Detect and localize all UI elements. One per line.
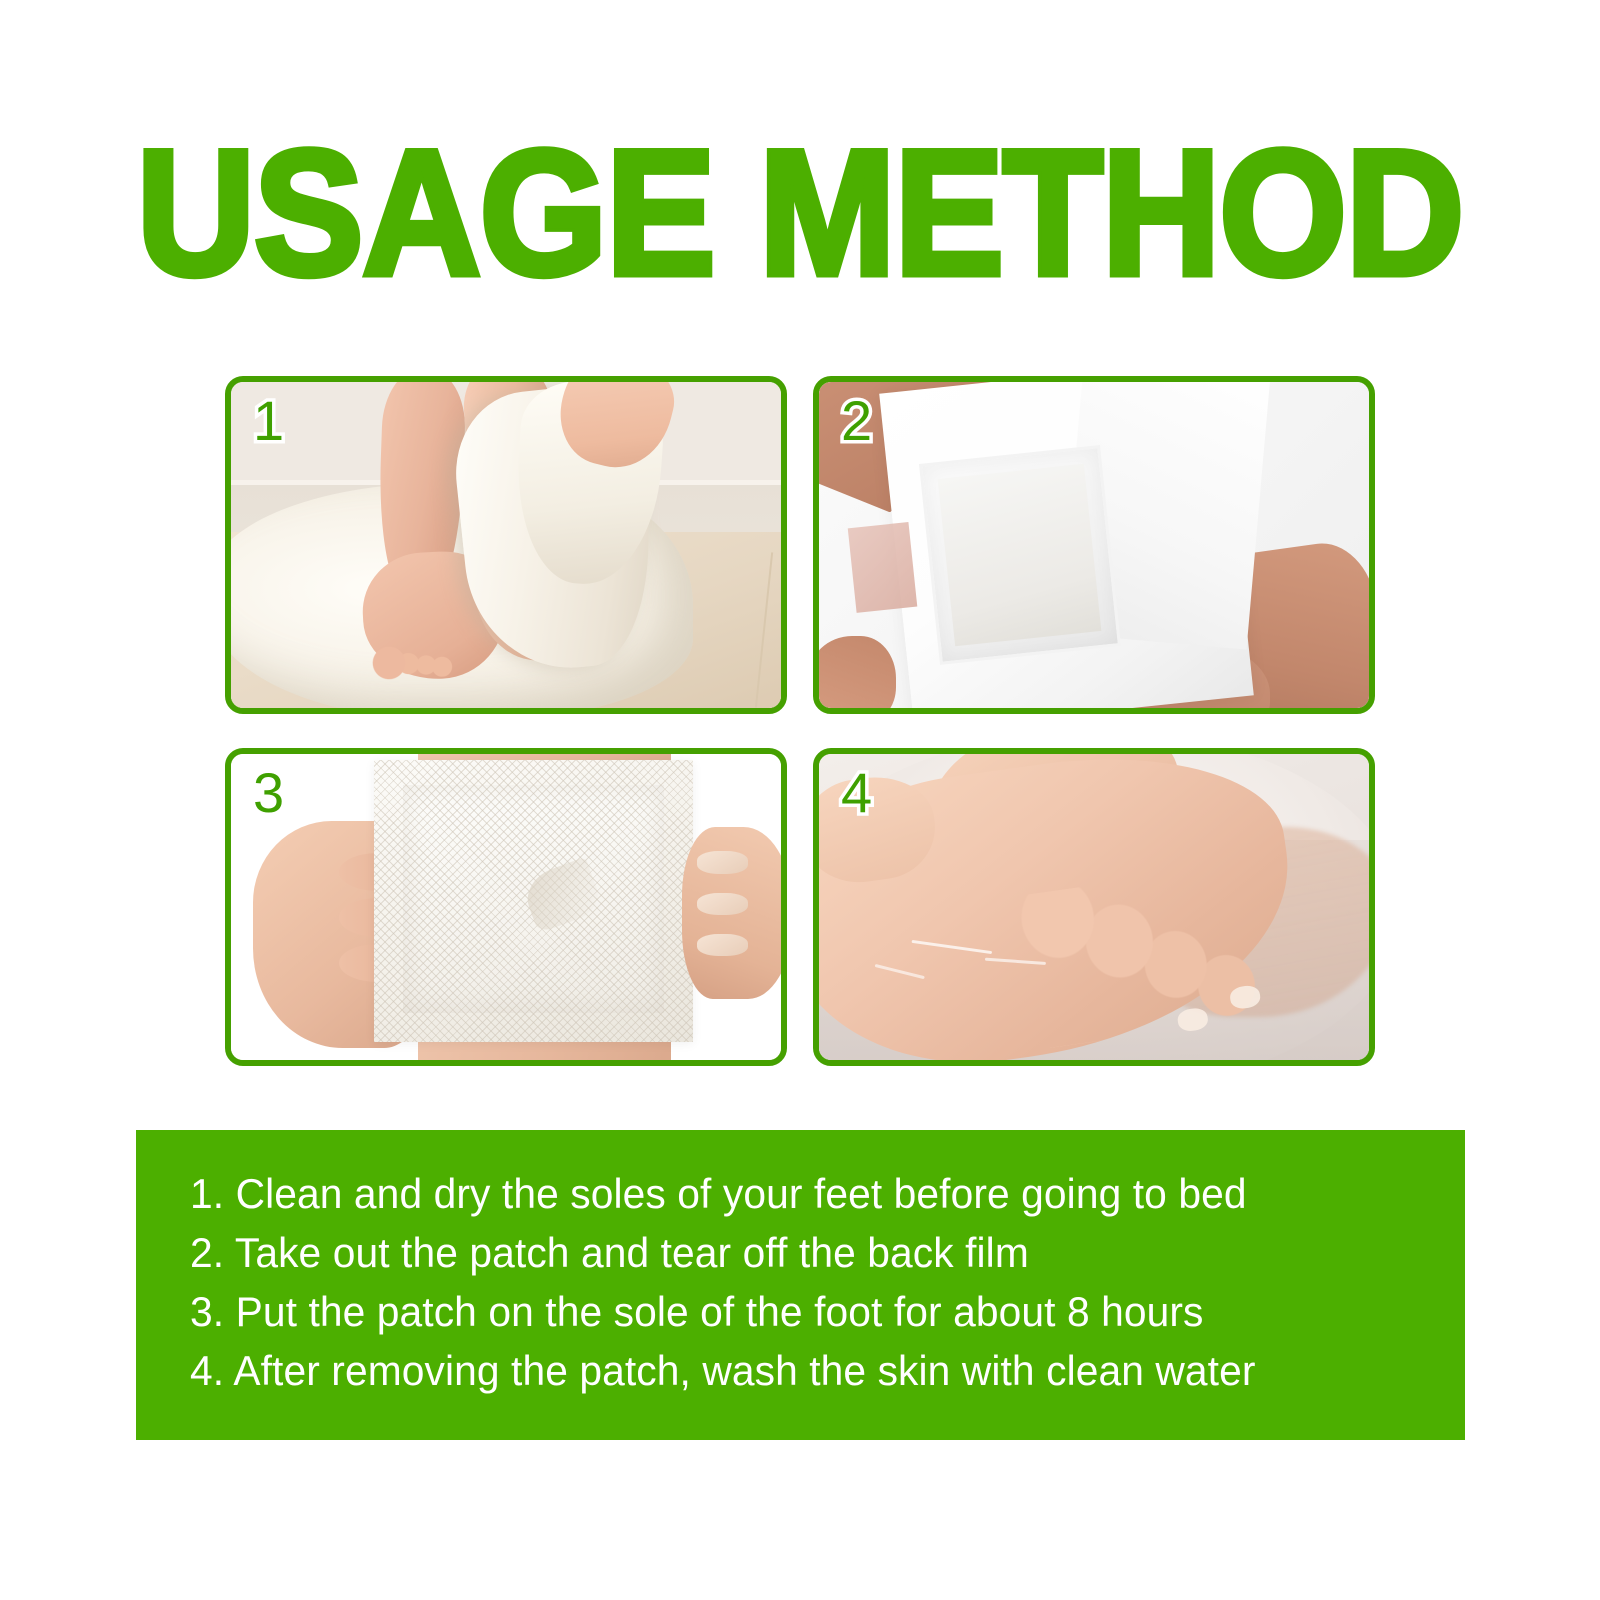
patch-adhesive-edge [848,523,917,614]
step-panel-3: 3 [225,748,787,1066]
step-panel-4: 4 [813,748,1375,1066]
photo-wash-feet-in-water [819,754,1369,1060]
patch-core [938,463,1102,646]
foot-patch [919,445,1121,665]
fingernail [697,851,748,873]
right-hand [682,827,781,998]
step-number-badge-3: 3 [253,764,284,823]
usage-method-infographic: USAGE METHOD 1 [0,0,1600,1600]
step-number-badge-1: 1 [253,392,284,451]
instruction-step-3: 3. Put the patch on the sole of the foot… [190,1282,1427,1341]
left-toes [370,642,460,680]
front-foot [819,754,1310,1060]
step-number-badge-2: 2 [841,392,872,451]
page-title: USAGE METHOD [64,128,1536,298]
photo-dry-feet-with-towel [231,382,781,708]
foot-patch [374,760,693,1042]
fingernail [697,893,748,915]
step-number-badge-4: 4 [841,764,872,823]
photo-peel-backing-film [819,382,1369,708]
instruction-step-1: 1. Clean and dry the soles of your feet … [190,1164,1427,1223]
instructions-list: 1. Clean and dry the soles of your feet … [190,1164,1465,1400]
ankle [819,769,942,890]
water-highlight [875,964,925,979]
instruction-step-2: 2. Take out the patch and tear off the b… [190,1223,1427,1282]
step-panel-grid: 1 2 [225,376,1375,1066]
photo-apply-patch [231,754,781,1060]
water-highlight [912,940,993,954]
step-panel-1: 1 [225,376,787,714]
fingernail [697,934,748,956]
instructions-block: 1. Clean and dry the soles of your feet … [136,1130,1465,1440]
instruction-step-4: 4. After removing the patch, wash the sk… [190,1341,1427,1400]
thumb-bottom-left [819,636,896,708]
step-panel-2: 2 [813,376,1375,714]
